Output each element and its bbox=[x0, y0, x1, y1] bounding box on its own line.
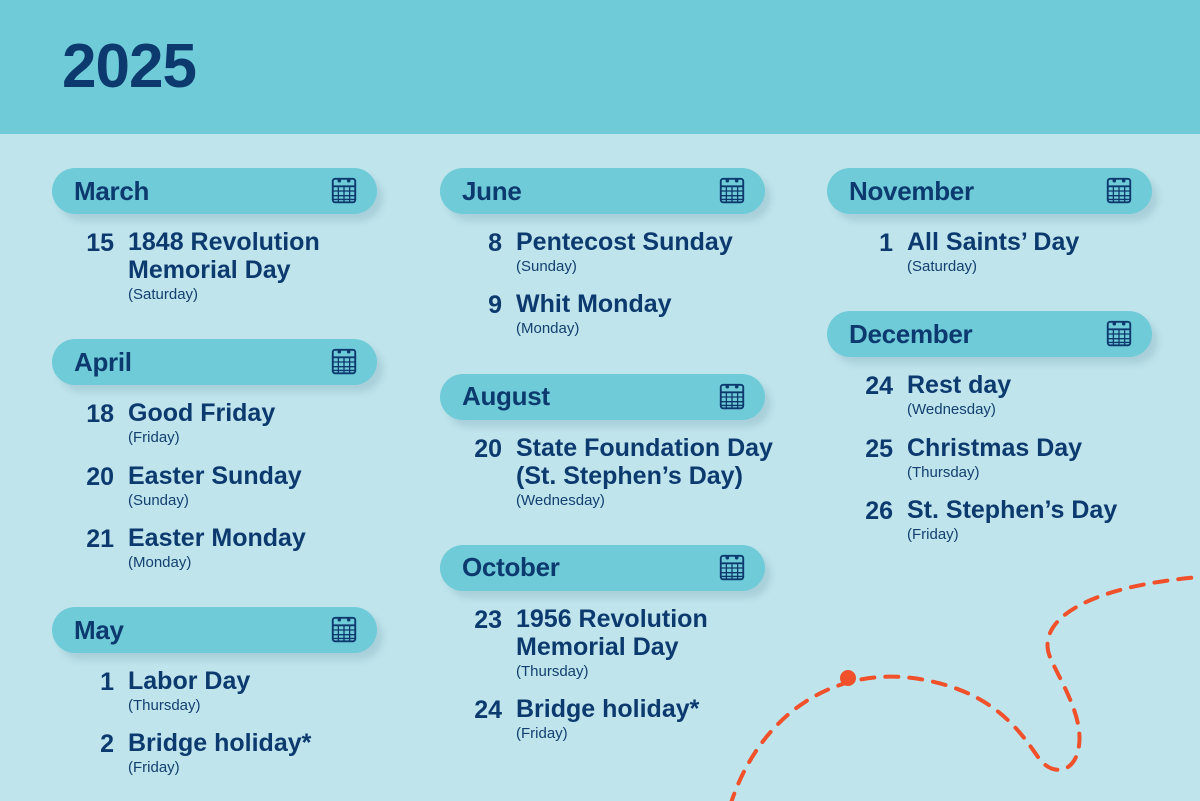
month-header-june[interactable]: June bbox=[440, 168, 765, 214]
month-block-august: August 20 State Foundation bbox=[440, 374, 780, 511]
holiday-name: Easter Monday bbox=[128, 524, 392, 552]
holiday-list: 20 State Foundation Day (St. Stephen’s D… bbox=[440, 434, 780, 511]
calendar-column-right: November 1 All Saints’ Day bbox=[827, 134, 1167, 558]
month-header-may[interactable]: May bbox=[52, 607, 377, 653]
holiday-entry: 21 Easter Monday (Monday) bbox=[68, 524, 392, 573]
holiday-entry: 1 All Saints’ Day (Saturday) bbox=[847, 228, 1167, 277]
calendar-column-left: March 15 1848 Revolution Me bbox=[52, 134, 392, 792]
holiday-name: 1848 Revolution Memorial Day bbox=[128, 228, 392, 284]
month-name-label: October bbox=[440, 552, 560, 583]
calendar-icon bbox=[1104, 176, 1134, 206]
month-block-december: December 24 Rest day bbox=[827, 311, 1167, 545]
holiday-entry: 2 Bridge holiday* (Friday) bbox=[68, 729, 392, 778]
holiday-list: 18 Good Friday (Friday) 20 Easter Sunday… bbox=[52, 399, 392, 573]
holiday-text: Rest day (Wednesday) bbox=[893, 371, 1167, 420]
holiday-text: Easter Monday (Monday) bbox=[114, 524, 392, 573]
month-name-label: June bbox=[440, 176, 521, 207]
holiday-text: Good Friday (Friday) bbox=[114, 399, 392, 448]
holiday-day: 1 bbox=[68, 667, 114, 696]
holiday-day: 21 bbox=[68, 524, 114, 553]
holiday-text: Pentecost Sunday (Sunday) bbox=[502, 228, 780, 277]
holiday-entry: 15 1848 Revolution Memorial Day (Saturda… bbox=[68, 228, 392, 305]
holiday-list: 1 All Saints’ Day (Saturday) bbox=[827, 228, 1167, 277]
holiday-day: 23 bbox=[456, 605, 502, 634]
calendar-icon bbox=[329, 347, 359, 377]
month-name-label: December bbox=[827, 319, 972, 350]
holiday-day: 24 bbox=[456, 695, 502, 724]
holiday-name: Pentecost Sunday bbox=[516, 228, 780, 256]
calendar-columns: March 15 1848 Revolution Me bbox=[0, 134, 1200, 801]
month-block-march: March 15 1848 Revolution Me bbox=[52, 168, 392, 305]
month-name-label: May bbox=[52, 615, 124, 646]
holiday-day: 20 bbox=[456, 434, 502, 463]
holiday-weekday: (Saturday) bbox=[128, 285, 392, 305]
holiday-day: 25 bbox=[847, 434, 893, 463]
month-header-march[interactable]: March bbox=[52, 168, 377, 214]
holiday-list: 1 Labor Day (Thursday) 2 Bridge holiday*… bbox=[52, 667, 392, 779]
holiday-name: State Foundation Day (St. Stephen’s Day) bbox=[516, 434, 780, 490]
header-band: 2025 bbox=[0, 0, 1200, 134]
holiday-entry: 9 Whit Monday (Monday) bbox=[456, 290, 780, 339]
holiday-day: 9 bbox=[456, 290, 502, 319]
holiday-entry: 20 State Foundation Day (St. Stephen’s D… bbox=[456, 434, 780, 511]
month-name-label: August bbox=[440, 381, 550, 412]
calendar-icon bbox=[717, 553, 747, 583]
month-header-april[interactable]: April bbox=[52, 339, 377, 385]
holiday-day: 24 bbox=[847, 371, 893, 400]
holiday-text: Christmas Day (Thursday) bbox=[893, 434, 1167, 483]
month-name-label: November bbox=[827, 176, 974, 207]
holiday-weekday: (Wednesday) bbox=[907, 400, 1167, 420]
holiday-list: 15 1848 Revolution Memorial Day (Saturda… bbox=[52, 228, 392, 305]
calendar-icon bbox=[329, 615, 359, 645]
calendar-icon bbox=[1104, 319, 1134, 349]
holiday-weekday: (Thursday) bbox=[128, 696, 392, 716]
holiday-list: 8 Pentecost Sunday (Sunday) 9 Whit Monda… bbox=[440, 228, 780, 340]
holiday-list: 24 Rest day (Wednesday) 25 Christmas Day… bbox=[827, 371, 1167, 545]
holiday-text: Labor Day (Thursday) bbox=[114, 667, 392, 716]
holiday-name: Bridge holiday* bbox=[516, 695, 780, 723]
holiday-entry: 23 1956 Revolution Memorial Day (Thursda… bbox=[456, 605, 780, 682]
holiday-entry: 8 Pentecost Sunday (Sunday) bbox=[456, 228, 780, 277]
page-title: 2025 bbox=[62, 36, 196, 98]
month-name-label: April bbox=[52, 347, 132, 378]
month-header-august[interactable]: August bbox=[440, 374, 765, 420]
holiday-text: 1848 Revolution Memorial Day (Saturday) bbox=[114, 228, 392, 305]
calendar-icon bbox=[717, 382, 747, 412]
holiday-day: 18 bbox=[68, 399, 114, 428]
holiday-text: State Foundation Day (St. Stephen’s Day)… bbox=[502, 434, 780, 511]
holiday-name: Good Friday bbox=[128, 399, 392, 427]
holiday-name: 1956 Revolution Memorial Day bbox=[516, 605, 780, 661]
calendar-icon bbox=[329, 176, 359, 206]
holiday-entry: 24 Bridge holiday* (Friday) bbox=[456, 695, 780, 744]
holiday-entry: 26 St. Stephen’s Day (Friday) bbox=[847, 496, 1167, 545]
holiday-weekday: (Friday) bbox=[128, 758, 392, 778]
holiday-weekday: (Thursday) bbox=[907, 463, 1167, 483]
holiday-text: Whit Monday (Monday) bbox=[502, 290, 780, 339]
holiday-text: All Saints’ Day (Saturday) bbox=[893, 228, 1167, 277]
holiday-name: Whit Monday bbox=[516, 290, 780, 318]
holiday-entry: 20 Easter Sunday (Sunday) bbox=[68, 462, 392, 511]
holiday-weekday: (Monday) bbox=[516, 319, 780, 339]
holiday-name: Bridge holiday* bbox=[128, 729, 392, 757]
holiday-text: 1956 Revolution Memorial Day (Thursday) bbox=[502, 605, 780, 682]
month-block-may: May 1 Labor Day bbox=[52, 607, 392, 779]
holiday-entry: 1 Labor Day (Thursday) bbox=[68, 667, 392, 716]
holiday-text: Bridge holiday* (Friday) bbox=[502, 695, 780, 744]
holiday-day: 20 bbox=[68, 462, 114, 491]
holiday-name: Christmas Day bbox=[907, 434, 1167, 462]
calendar-column-middle: June 8 Pentecost Sunday bbox=[440, 134, 780, 757]
month-header-november[interactable]: November bbox=[827, 168, 1152, 214]
calendar-icon bbox=[717, 176, 747, 206]
holiday-weekday: (Friday) bbox=[516, 724, 780, 744]
holiday-weekday: (Saturday) bbox=[907, 257, 1167, 277]
holiday-day: 26 bbox=[847, 496, 893, 525]
holiday-weekday: (Wednesday) bbox=[516, 491, 780, 511]
month-block-november: November 1 All Saints’ Day bbox=[827, 168, 1167, 277]
month-name-label: March bbox=[52, 176, 149, 207]
holiday-day: 1 bbox=[847, 228, 893, 257]
month-header-december[interactable]: December bbox=[827, 311, 1152, 357]
holiday-weekday: (Friday) bbox=[907, 525, 1167, 545]
holiday-weekday: (Thursday) bbox=[516, 662, 780, 682]
month-block-june: June 8 Pentecost Sunday bbox=[440, 168, 780, 340]
holiday-day: 2 bbox=[68, 729, 114, 758]
holiday-day: 15 bbox=[68, 228, 114, 257]
month-header-october[interactable]: October bbox=[440, 545, 765, 591]
holiday-name: Rest day bbox=[907, 371, 1167, 399]
holiday-entry: 18 Good Friday (Friday) bbox=[68, 399, 392, 448]
holiday-text: St. Stephen’s Day (Friday) bbox=[893, 496, 1167, 545]
holiday-day: 8 bbox=[456, 228, 502, 257]
holiday-weekday: (Sunday) bbox=[516, 257, 780, 277]
holiday-entry: 24 Rest day (Wednesday) bbox=[847, 371, 1167, 420]
holiday-weekday: (Friday) bbox=[128, 428, 392, 448]
holiday-weekday: (Monday) bbox=[128, 553, 392, 573]
holiday-text: Easter Sunday (Sunday) bbox=[114, 462, 392, 511]
month-block-april: April 18 Good Friday bbox=[52, 339, 392, 573]
holiday-list: 23 1956 Revolution Memorial Day (Thursda… bbox=[440, 605, 780, 745]
holiday-weekday: (Sunday) bbox=[128, 491, 392, 511]
holiday-name: Labor Day bbox=[128, 667, 392, 695]
holiday-name: St. Stephen’s Day bbox=[907, 496, 1167, 524]
holiday-name: All Saints’ Day bbox=[907, 228, 1167, 256]
month-block-october: October 23 1956 Revolution bbox=[440, 545, 780, 745]
holiday-entry: 25 Christmas Day (Thursday) bbox=[847, 434, 1167, 483]
holiday-name: Easter Sunday bbox=[128, 462, 392, 490]
holiday-text: Bridge holiday* (Friday) bbox=[114, 729, 392, 778]
